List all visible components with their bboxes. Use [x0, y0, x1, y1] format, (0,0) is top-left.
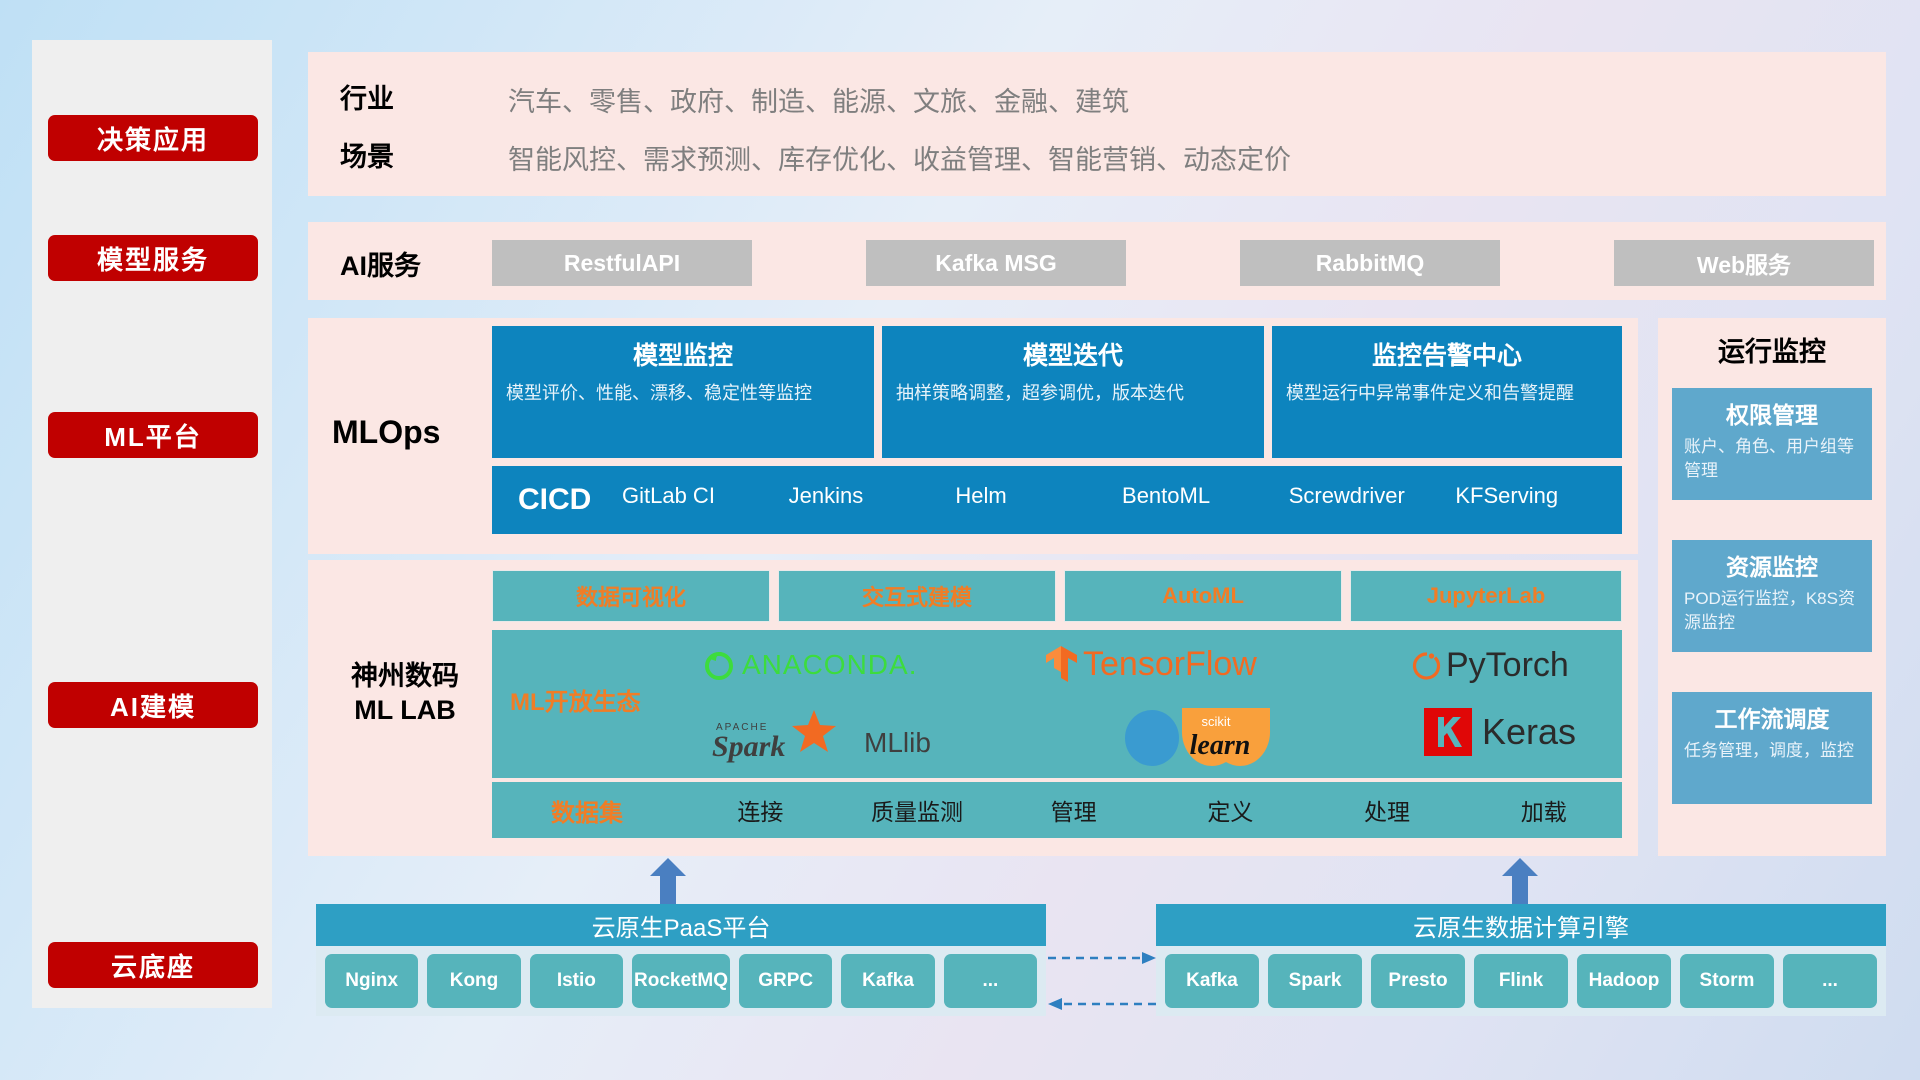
- ml-ecosystem-title: ML开放生态: [510, 682, 641, 717]
- tensorflow-logo: TensorFlow: [1044, 644, 1257, 684]
- cicd-item-list: GitLab CI Jenkins Helm BentoML Screwdriv…: [622, 485, 1622, 515]
- data-engine-group: 云原生数据计算引擎 Kafka Spark Presto Flink Hadoo…: [1156, 904, 1886, 1016]
- mlops-card-model-monitoring[interactable]: 模型监控 模型评价、性能、漂移、稳定性等监控: [492, 326, 874, 458]
- tab-label: JupyterLab: [1427, 583, 1546, 609]
- anaconda-logo: ANACONDA .: [702, 648, 916, 682]
- spark-mllib-logo: APACHE Spark MLlib: [710, 708, 931, 764]
- paas-pill-rocketmq[interactable]: RocketMQ: [632, 954, 730, 1008]
- stage-chip-label: 决策应用: [97, 120, 209, 157]
- cicd-item-jenkins[interactable]: Jenkins: [789, 485, 956, 515]
- mlops-card-title: 监控告警中心: [1286, 336, 1608, 372]
- mlops-card-desc: 模型运行中异常事件定义和告警提醒: [1286, 380, 1608, 406]
- mlops-card-title: 模型监控: [506, 336, 860, 372]
- ai-chip-kafka-msg[interactable]: Kafka MSG: [866, 240, 1126, 286]
- dataset-item-process[interactable]: 处理: [1309, 793, 1466, 827]
- ai-chip-label: RabbitMQ: [1316, 250, 1425, 277]
- stage-chip-label: 云底座: [111, 947, 195, 984]
- anaconda-wordmark: ANACONDA: [742, 649, 909, 681]
- stage-chip-decision[interactable]: 决策应用: [48, 115, 258, 161]
- monitor-card-desc: 任务管理，调度，监控: [1684, 739, 1860, 763]
- tab-jupyterlab[interactable]: JupyterLab: [1350, 570, 1622, 622]
- mlops-card-title: 模型迭代: [896, 336, 1250, 372]
- paas-pill-more[interactable]: ...: [944, 954, 1037, 1008]
- dataset-item-manage[interactable]: 管理: [995, 793, 1152, 827]
- scenario-row-value: 智能风控、需求预测、库存优化、收益管理、智能营销、动态定价: [508, 138, 1291, 177]
- cicd-bar: CICD GitLab CI Jenkins Helm BentoML Scre…: [492, 466, 1622, 534]
- tensorflow-icon: [1044, 644, 1080, 684]
- anaconda-icon: [702, 648, 736, 682]
- keras-logo: Keras: [1422, 706, 1576, 758]
- stage-rail: [32, 40, 272, 1008]
- monitor-card-title: 资源监控: [1684, 548, 1860, 582]
- tab-label: AutoML: [1162, 583, 1244, 609]
- monitor-card-title: 工作流调度: [1684, 700, 1860, 734]
- monitoring-rail-title: 运行监控: [1658, 330, 1886, 369]
- tab-data-visualization[interactable]: 数据可视化: [492, 570, 770, 622]
- monitor-card-workflow[interactable]: 工作流调度 任务管理，调度，监控: [1672, 692, 1872, 804]
- monitor-card-desc: 账户、角色、用户组等管理: [1684, 435, 1860, 483]
- cicd-item-bentoml[interactable]: BentoML: [1122, 485, 1289, 515]
- paas-pill-kong[interactable]: Kong: [427, 954, 520, 1008]
- mlops-card-alert-center[interactable]: 监控告警中心 模型运行中异常事件定义和告警提醒: [1272, 326, 1622, 458]
- keras-icon: [1422, 706, 1474, 758]
- architecture-diagram: 决策应用 模型服务 ML平台 AI建模 云底座 行业 汽车、零售、政府、制造、能…: [0, 0, 1920, 1080]
- mlops-card-model-iteration[interactable]: 模型迭代 抽样策略调整，超参调优，版本迭代: [882, 326, 1264, 458]
- dataset-row: 数据集 连接 质量监测 管理 定义 处理 加载: [492, 782, 1622, 838]
- ml-ecosystem-panel: ML开放生态 ANACONDA . TensorFlow PyTorch: [492, 630, 1622, 778]
- engine-pill-more[interactable]: ...: [1783, 954, 1877, 1008]
- mlops-card-desc: 模型评价、性能、漂移、稳定性等监控: [506, 380, 860, 406]
- paas-pill-kafka[interactable]: Kafka: [841, 954, 934, 1008]
- engine-pill-flink[interactable]: Flink: [1474, 954, 1568, 1008]
- tab-interactive-modeling[interactable]: 交互式建模: [778, 570, 1056, 622]
- ai-chip-web-service[interactable]: Web服务: [1614, 240, 1874, 286]
- engine-pill-storm[interactable]: Storm: [1680, 954, 1774, 1008]
- ai-service-label: AI服务: [340, 248, 421, 278]
- ai-chip-label: Web服务: [1697, 246, 1791, 280]
- ai-chip-label: RestfulAPI: [564, 250, 680, 277]
- pytorch-wordmark: PyTorch: [1446, 646, 1569, 685]
- svg-text:learn: learn: [1190, 730, 1251, 761]
- stage-chip-ml-platform[interactable]: ML平台: [48, 412, 258, 458]
- engine-pill-presto[interactable]: Presto: [1371, 954, 1465, 1008]
- tab-label: 交互式建模: [862, 580, 972, 612]
- up-arrow-data-engine: [1500, 858, 1540, 904]
- paas-pill-tray: Nginx Kong Istio RocketMQ GRPC Kafka ...: [316, 946, 1046, 1016]
- paas-pill-grpc[interactable]: GRPC: [739, 954, 832, 1008]
- industry-row-value: 汽车、零售、政府、制造、能源、文旅、金融、建筑: [508, 80, 1129, 119]
- stage-chip-label: 模型服务: [97, 240, 209, 277]
- ml-lab-label-line2: ML LAB: [325, 694, 485, 728]
- mlops-label: MLOps: [332, 412, 440, 452]
- dataset-item-define[interactable]: 定义: [1152, 793, 1309, 827]
- monitor-card-desc: POD运行监控，K8S资源监控: [1684, 587, 1860, 635]
- stage-chip-ai-modeling[interactable]: AI建模: [48, 682, 258, 728]
- ai-chip-restfulapi[interactable]: RestfulAPI: [492, 240, 752, 286]
- keras-wordmark: Keras: [1482, 711, 1576, 753]
- industry-row-label: 行业: [340, 74, 430, 118]
- mlops-card-desc: 抽样策略调整，超参调优，版本迭代: [896, 380, 1250, 406]
- stage-chip-label: AI建模: [110, 687, 196, 724]
- tab-label: 数据可视化: [576, 580, 686, 612]
- data-engine-header: 云原生数据计算引擎: [1156, 904, 1886, 946]
- cicd-item-gitlab-ci[interactable]: GitLab CI: [622, 485, 789, 515]
- dataset-item-load[interactable]: 加载: [1465, 793, 1622, 827]
- paas-platform-group: 云原生PaaS平台 Nginx Kong Istio RocketMQ GRPC…: [316, 904, 1046, 1016]
- cicd-item-kfserving[interactable]: KFServing: [1455, 485, 1622, 515]
- pytorch-icon: [1412, 648, 1442, 684]
- ml-lab-label-line1: 神州数码: [325, 660, 485, 694]
- stage-chip-label: ML平台: [104, 417, 202, 454]
- up-arrow-paas: [648, 858, 688, 904]
- monitor-card-resource[interactable]: 资源监控 POD运行监控，K8S资源监控: [1672, 540, 1872, 652]
- ai-chip-label: Kafka MSG: [935, 250, 1056, 277]
- engine-pill-hadoop[interactable]: Hadoop: [1577, 954, 1671, 1008]
- scikit-learn-logo: scikit learn: [1120, 704, 1290, 766]
- bottom-connector-arrows: [1046, 946, 1158, 1024]
- svg-text:scikit: scikit: [1202, 714, 1231, 729]
- engine-pill-kafka[interactable]: Kafka: [1165, 954, 1259, 1008]
- paas-pill-nginx[interactable]: Nginx: [325, 954, 418, 1008]
- ml-lab-label: 神州数码 ML LAB: [325, 660, 485, 728]
- dataset-item-connect[interactable]: 连接: [682, 793, 839, 827]
- cicd-title: CICD: [492, 483, 622, 517]
- tab-automl[interactable]: AutoML: [1064, 570, 1342, 622]
- engine-pill-spark[interactable]: Spark: [1268, 954, 1362, 1008]
- svg-text:Spark: Spark: [712, 730, 785, 763]
- monitor-card-permission[interactable]: 权限管理 账户、角色、用户组等管理: [1672, 388, 1872, 500]
- monitor-card-title: 权限管理: [1684, 396, 1860, 430]
- dataset-item-quality[interactable]: 质量监测: [839, 793, 996, 827]
- stage-chip-model-service[interactable]: 模型服务: [48, 235, 258, 281]
- stage-chip-cloud-base[interactable]: 云底座: [48, 942, 258, 988]
- pytorch-logo: PyTorch: [1412, 646, 1569, 685]
- scikit-learn-icon: scikit learn: [1120, 704, 1290, 766]
- spark-icon: APACHE Spark: [710, 708, 860, 764]
- data-engine-pill-tray: Kafka Spark Presto Flink Hadoop Storm ..…: [1156, 946, 1886, 1016]
- cicd-item-helm[interactable]: Helm: [955, 485, 1122, 515]
- scenario-row-label: 场景: [340, 132, 430, 176]
- cicd-item-screwdriver[interactable]: Screwdriver: [1289, 485, 1456, 515]
- ai-chip-rabbitmq[interactable]: RabbitMQ: [1240, 240, 1500, 286]
- mllib-wordmark: MLlib: [864, 727, 931, 759]
- paas-platform-header: 云原生PaaS平台: [316, 904, 1046, 946]
- dataset-title: 数据集: [492, 793, 682, 828]
- tensorflow-wordmark: TensorFlow: [1083, 645, 1257, 684]
- paas-pill-istio[interactable]: Istio: [530, 954, 623, 1008]
